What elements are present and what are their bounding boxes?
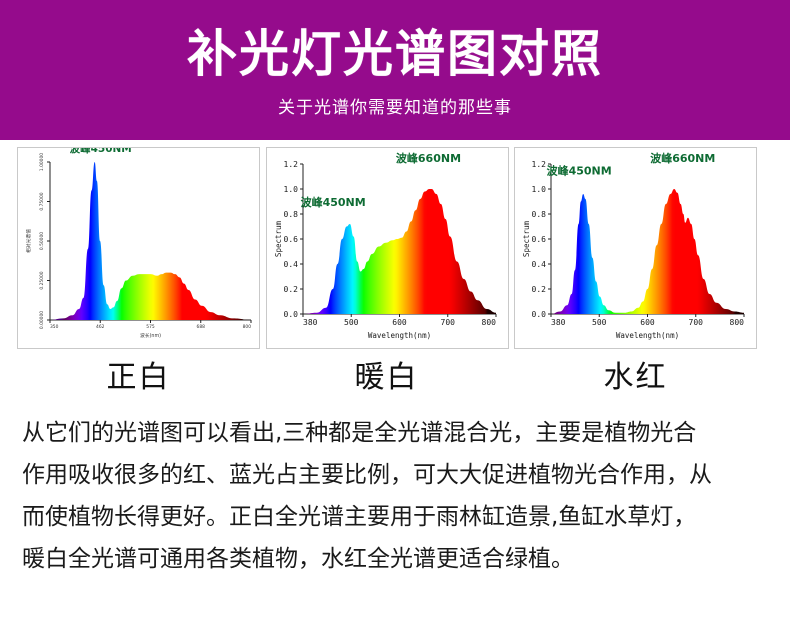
svg-text:波峰660NM: 波峰660NM: [650, 151, 715, 165]
svg-text:Spectrum: Spectrum: [274, 220, 283, 257]
chart-captions: 正白 暖白 水红: [17, 352, 757, 398]
svg-text:800: 800: [481, 318, 496, 327]
svg-text:1.0: 1.0: [283, 185, 298, 194]
description-paragraph: 从它们的光谱图可以看出,三种都是全光谱混合光，主要是植物光合 作用吸收很多的红、…: [22, 412, 774, 580]
page-subtitle: 关于光谱你需要知道的那些事: [278, 93, 512, 118]
spectrum-chart-zhengbai: 0.000000.250000.500000.750001.0000035046…: [18, 148, 259, 348]
svg-text:1.00000: 1.00000: [39, 153, 45, 171]
chart-card-nuanbai: 0.00.20.40.60.81.01.2380500600700800Wave…: [266, 147, 509, 349]
svg-text:0.00000: 0.00000: [39, 311, 45, 329]
svg-text:0.75000: 0.75000: [39, 192, 45, 210]
chart-card-zhengbai: 0.000000.250000.500000.750001.0000035046…: [17, 147, 260, 349]
svg-text:Wavelength(nm): Wavelength(nm): [616, 331, 679, 340]
svg-text:相对光谱值: 相对光谱值: [25, 229, 32, 253]
svg-text:0.0: 0.0: [532, 310, 547, 319]
svg-text:1.2: 1.2: [532, 160, 547, 169]
svg-text:1.2: 1.2: [283, 160, 298, 169]
spectrum-chart-nuanbai: 0.00.20.40.60.81.01.2380500600700800Wave…: [267, 148, 508, 348]
caption-nuanbai: 暖白: [265, 352, 508, 396]
description-line-4: 暖白全光谱可通用各类植物，水红全光谱更适合绿植。: [22, 538, 774, 580]
svg-text:500: 500: [344, 318, 359, 327]
svg-text:0.2: 0.2: [532, 285, 547, 294]
svg-text:Spectrum: Spectrum: [522, 220, 531, 257]
description-line-3: 而使植物长得更好。正白全光谱主要用于雨林缸造景,鱼缸水草灯，: [22, 496, 774, 538]
svg-text:波峰450NM: 波峰450NM: [70, 148, 132, 155]
svg-text:800: 800: [730, 318, 745, 327]
svg-text:380: 380: [551, 318, 566, 327]
spectrum-chart-row: 0.000000.250000.500000.750001.0000035046…: [17, 147, 757, 349]
svg-text:500: 500: [592, 318, 607, 327]
description-line-2: 作用吸收很多的红、蓝光占主要比例，可大大促进植物光合作用，从: [22, 454, 774, 496]
svg-text:0.0: 0.0: [283, 310, 298, 319]
svg-text:Wavelength(nm): Wavelength(nm): [367, 331, 430, 340]
svg-text:462: 462: [96, 324, 105, 330]
svg-text:0.50000: 0.50000: [39, 232, 45, 250]
chart-card-shuihong: 0.00.20.40.60.81.01.2380500600700800Wave…: [514, 147, 757, 349]
spectrum-chart-shuihong: 0.00.20.40.60.81.01.2380500600700800Wave…: [515, 148, 756, 348]
page-root: 补光灯光谱图对照 关于光谱你需要知道的那些事 0.000000.250000.5…: [0, 0, 790, 639]
svg-text:800: 800: [243, 324, 252, 330]
svg-text:688: 688: [197, 324, 206, 330]
svg-text:0.4: 0.4: [283, 260, 298, 269]
svg-text:700: 700: [440, 318, 455, 327]
svg-text:波峰450NM: 波峰450NM: [300, 195, 365, 209]
svg-text:0.25000: 0.25000: [39, 271, 45, 289]
svg-text:0.2: 0.2: [283, 285, 298, 294]
svg-text:700: 700: [689, 318, 704, 327]
header-banner: 补光灯光谱图对照 关于光谱你需要知道的那些事: [0, 0, 790, 140]
svg-text:0.8: 0.8: [283, 210, 298, 219]
caption-zhengbai: 正白: [17, 352, 260, 396]
page-title: 补光灯光谱图对照: [187, 28, 603, 81]
svg-text:0.6: 0.6: [283, 235, 298, 244]
svg-text:600: 600: [640, 318, 655, 327]
svg-text:1.0: 1.0: [532, 185, 547, 194]
svg-text:380: 380: [303, 318, 318, 327]
caption-shuihong: 水红: [514, 352, 757, 396]
svg-text:波长(nm): 波长(nm): [140, 332, 161, 339]
svg-text:0.4: 0.4: [532, 260, 547, 269]
svg-text:575: 575: [146, 324, 155, 330]
svg-text:600: 600: [392, 318, 407, 327]
svg-text:350: 350: [50, 324, 59, 330]
svg-text:波峰660NM: 波峰660NM: [395, 151, 460, 165]
svg-text:波峰450NM: 波峰450NM: [547, 164, 612, 178]
svg-text:0.8: 0.8: [532, 210, 547, 219]
description-line-1: 从它们的光谱图可以看出,三种都是全光谱混合光，主要是植物光合: [22, 412, 774, 454]
svg-text:0.6: 0.6: [532, 235, 547, 244]
